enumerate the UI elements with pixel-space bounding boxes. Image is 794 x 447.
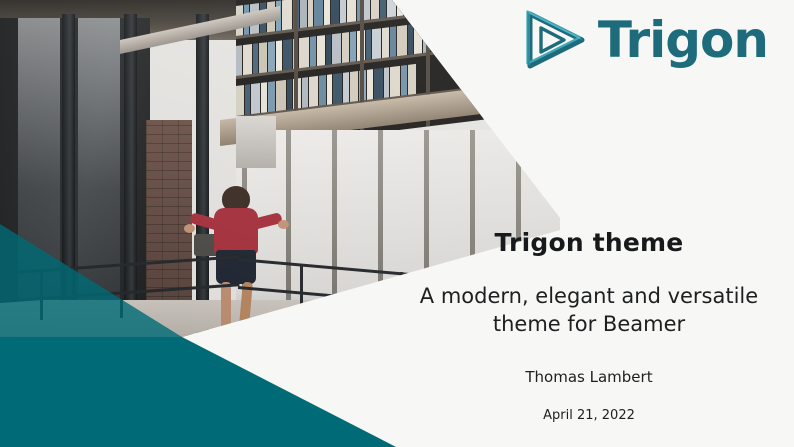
page-subtitle: A modern, elegant and versatile theme fo… bbox=[392, 283, 786, 338]
wall-panel bbox=[236, 116, 276, 168]
brand-logo: Trigon bbox=[524, 8, 768, 72]
trigon-play-triangle-logo-icon bbox=[524, 8, 588, 72]
page-title: Trigon theme bbox=[392, 228, 786, 257]
presentation-date: April 21, 2022 bbox=[392, 408, 786, 423]
title-block: Trigon theme A modern, elegant and versa… bbox=[392, 228, 786, 423]
author-name: Thomas Lambert bbox=[392, 368, 786, 386]
person-figure bbox=[196, 186, 274, 354]
logo-wordmark: Trigon bbox=[598, 15, 768, 65]
title-slide: Trigon Trigon theme A modern, elegant an… bbox=[0, 0, 794, 447]
